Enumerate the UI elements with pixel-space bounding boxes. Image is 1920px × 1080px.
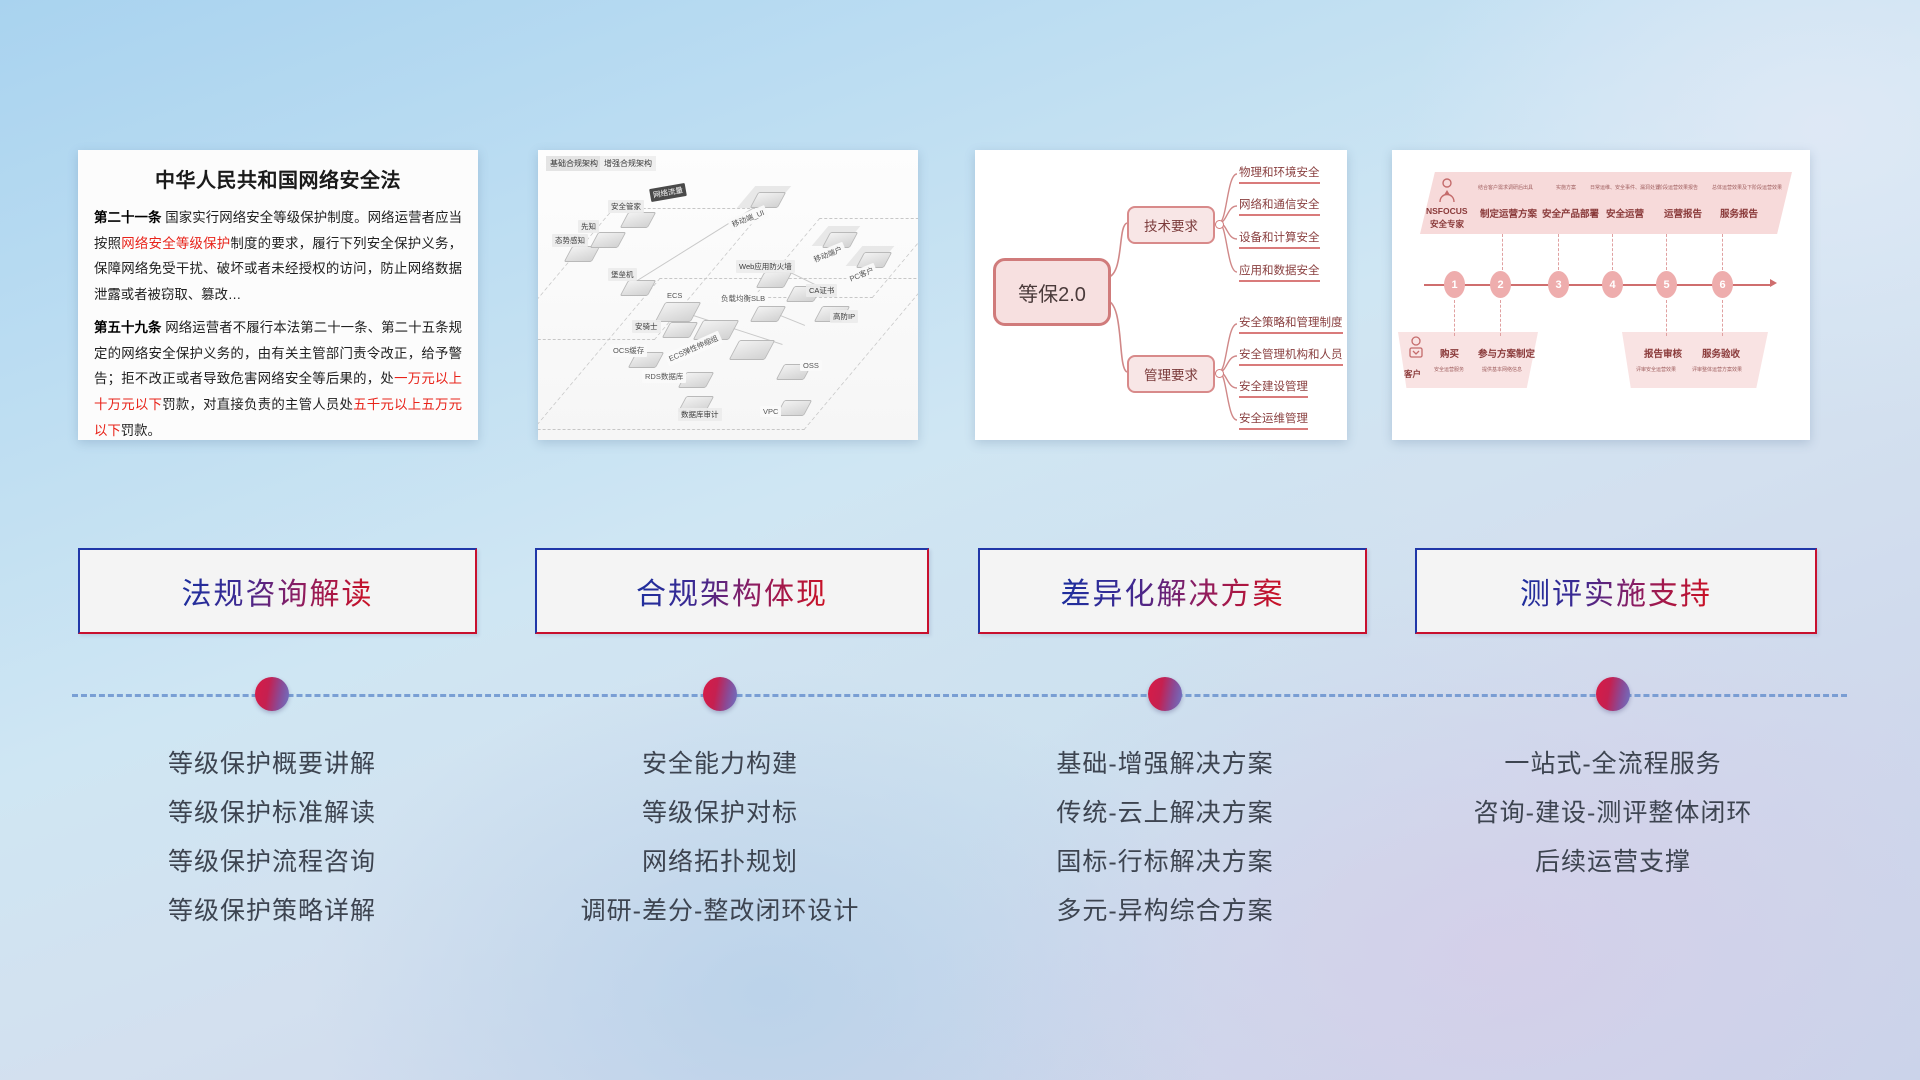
expert-label-line2: 安全专家 (1430, 218, 1464, 230)
law-article-59-text-b: 罚款，对直接负责的主管人员处 (162, 397, 353, 412)
mindmap-collapse-icon-technical[interactable] (1215, 220, 1224, 229)
timeline-bottom-sub-1: 安全运营服务 (1434, 366, 1464, 373)
arch-label-situational-awareness: 态势感知 (552, 234, 588, 247)
timeline-connector-6-top (1722, 234, 1724, 270)
card-architecture-diagram[interactable]: 基础合规架构 增强合规架构 态势感知 先知 安全管家 网络流量 (538, 150, 918, 440)
card-mindmap-dengbao[interactable]: 等保2.0 技术要求 物理和环境安全 网络和通信安全 设备和计算安全 应用和数据… (975, 150, 1347, 440)
law-body: 中华人民共和国网络安全法 第二十一条 国家实行网络安全等级保护制度。网络运营者应… (78, 150, 478, 440)
arch-label-db-audit: 数据库审计 (678, 408, 722, 421)
timeline-top-sub-1: 结合客户需求调研后出具 (1478, 184, 1533, 191)
list-item: 多元-异构综合方案 (965, 887, 1365, 936)
timeline-marker-dot-1[interactable] (255, 677, 289, 711)
timeline-marker-dot-3[interactable] (1148, 677, 1182, 711)
arch-tab-basic[interactable]: 基础合规架构 (546, 156, 602, 171)
section-header-label-0: 法规咨询解读 (182, 569, 374, 613)
timeline-top-title-2: 安全产品部署 (1542, 206, 1599, 220)
customer-person-icon (1406, 336, 1426, 364)
timeline-top-sub-2: 实施方案 (1556, 184, 1576, 191)
timeline-connector-4-top (1612, 234, 1614, 270)
card-service-timeline[interactable]: NSFOCUS 安全专家 客户 结合客户需求调研后出具 制定运营方案 实施方案 … (1392, 150, 1810, 440)
customer-label: 客户 (1404, 368, 1421, 380)
service-timeline-canvas: NSFOCUS 安全专家 客户 结合客户需求调研后出具 制定运营方案 实施方案 … (1392, 150, 1810, 440)
section-header-label-1: 合规架构体现 (636, 569, 828, 613)
list-item: 等级保护流程咨询 (72, 838, 472, 887)
section-header-label-3: 测评实施支持 (1520, 569, 1712, 613)
arch-label-bastion: 堡垒机 (608, 268, 637, 281)
list-item: 安全能力构建 (520, 740, 920, 789)
timeline-connector-1-bottom (1454, 300, 1456, 336)
list-item: 咨询-建设-测评整体闭环 (1413, 789, 1813, 838)
bullet-column-differentiated-solution: 基础-增强解决方案 传统-云上解决方案 国标-行标解决方案 多元-异构综合方案 (965, 740, 1365, 936)
arch-label-slb: 负载均衡SLB (718, 292, 768, 305)
law-article-21-highlight: 网络安全等级保护 (121, 236, 230, 251)
timeline-bottom-title-4: 服务验收 (1702, 346, 1740, 360)
timeline-top-title-1: 制定运营方案 (1480, 206, 1537, 220)
arch-label-anti-ddos: 高防IP (830, 310, 858, 323)
timeline-connector-2-top (1502, 234, 1504, 270)
timeline-node-3[interactable]: 3 (1548, 271, 1569, 298)
dashed-timeline-rule (72, 694, 1847, 697)
timeline-node-2[interactable]: 2 (1490, 271, 1511, 298)
mindmap-leaf-physical-env: 物理和环境安全 (1239, 164, 1320, 184)
mindmap-leaf-network-comm: 网络和通信安全 (1239, 196, 1320, 216)
mindmap-leaf-device-compute: 设备和计算安全 (1239, 229, 1320, 249)
timeline-node-1[interactable]: 1 (1444, 271, 1465, 298)
timeline-band-customer-right (1622, 332, 1768, 388)
arch-label-xianzhi: 先知 (578, 220, 599, 233)
arch-label-network-traffic: 网络流量 (649, 183, 687, 202)
timeline-marker-dot-4[interactable] (1596, 677, 1630, 711)
timeline-top-title-3: 安全运营 (1606, 206, 1644, 220)
list-item: 网络拓扑规划 (520, 838, 920, 887)
expert-person-icon (1436, 178, 1458, 204)
arch-label-oss: OSS (800, 360, 822, 371)
arch-label-ecs: ECS (664, 290, 685, 301)
timeline-connector-2-bottom (1500, 300, 1502, 336)
arch-label-vpc: VPC (760, 406, 781, 417)
timeline-top-title-4: 运营报告 (1664, 206, 1702, 220)
section-header-label-2: 差异化解决方案 (1061, 569, 1285, 613)
mindmap-branch-technical[interactable]: 技术要求 (1127, 206, 1215, 244)
timeline-connector-6-bottom (1722, 300, 1724, 336)
mindmap-leaf-org-personnel: 安全管理机构和人员 (1239, 346, 1343, 366)
timeline-bottom-title-1: 购买 (1440, 346, 1459, 360)
list-item: 等级保护标准解读 (72, 789, 472, 838)
list-item: 等级保护概要讲解 (72, 740, 472, 789)
timeline-top-sub-5: 总体运营效果及下阶段运营效果 (1712, 184, 1782, 191)
expert-label-line1: NSFOCUS (1426, 206, 1468, 216)
timeline-connector-5-bottom (1666, 300, 1668, 336)
mindmap-leaf-build-mgmt: 安全建设管理 (1239, 378, 1308, 398)
timeline-marker-dot-2[interactable] (703, 677, 737, 711)
law-article-59-label: 第五十九条 (94, 320, 161, 335)
arch-label-ocs-cache: OCS缓存 (610, 344, 647, 357)
timeline-top-sub-3: 日常运维、安全事件、漏洞处置 (1590, 184, 1660, 191)
arch-label-security-butler: 安全管家 (608, 200, 644, 213)
list-item: 传统-云上解决方案 (965, 789, 1365, 838)
mindmap-root[interactable]: 等保2.0 (993, 258, 1111, 326)
timeline-bottom-sub-3: 评审安全运营效果 (1636, 366, 1676, 373)
timeline-bottom-sub-2: 提供基本网络信息 (1482, 366, 1522, 373)
timeline-arrow-icon (1770, 279, 1777, 287)
arch-label-waf: Web应用防火墙 (736, 260, 795, 273)
bullet-column-compliance-architecture: 安全能力构建 等级保护对标 网络拓扑规划 调研-差分-整改闭环设计 (520, 740, 920, 936)
card-cybersecurity-law[interactable]: 中华人民共和国网络安全法 第二十一条 国家实行网络安全等级保护制度。网络运营者应… (78, 150, 478, 440)
section-header-regulation-consulting[interactable]: 法规咨询解读 (78, 548, 477, 634)
timeline-connector-5-top (1666, 234, 1668, 270)
arch-tab-enhanced[interactable]: 增强合规架构 (600, 156, 656, 171)
mindmap-leaf-ops-mgmt: 安全运维管理 (1239, 410, 1308, 430)
timeline-top-sub-4: 阶段运营效果报告 (1658, 184, 1698, 191)
list-item: 一站式-全流程服务 (1413, 740, 1813, 789)
arch-label-anqishi: 安骑士 (632, 320, 661, 333)
mindmap-canvas: 等保2.0 技术要求 物理和环境安全 网络和通信安全 设备和计算安全 应用和数据… (975, 150, 1347, 440)
list-item: 等级保护对标 (520, 789, 920, 838)
mindmap-collapse-icon-management[interactable] (1215, 369, 1224, 378)
section-header-differentiated-solution[interactable]: 差异化解决方案 (978, 548, 1367, 634)
timeline-band-expert (1420, 172, 1792, 234)
timeline-bottom-title-3: 报告审核 (1644, 346, 1682, 360)
law-article-59-text-c: 罚款。 (121, 423, 161, 438)
list-item: 国标-行标解决方案 (965, 838, 1365, 887)
law-article-21: 第二十一条 国家实行网络安全等级保护制度。网络运营者应当按照网络安全等级保护制度… (94, 205, 462, 308)
architecture-canvas: 基础合规架构 增强合规架构 态势感知 先知 安全管家 网络流量 (538, 150, 918, 440)
bullet-column-regulation-consulting: 等级保护概要讲解 等级保护标准解读 等级保护流程咨询 等级保护策略详解 (72, 740, 472, 936)
arch-label-rds: RDS数据库 (642, 370, 686, 383)
bullet-column-assessment-support: 一站式-全流程服务 咨询-建设-测评整体闭环 后续运营支撑 (1413, 740, 1813, 887)
timeline-bottom-sub-4: 评审整体运营方案效果 (1692, 366, 1742, 373)
timeline-node-4[interactable]: 4 (1602, 271, 1623, 298)
arch-label-ca-cert: CA证书 (806, 284, 837, 297)
mindmap-leaf-app-data: 应用和数据安全 (1239, 262, 1320, 282)
section-header-compliance-architecture[interactable]: 合规架构体现 (535, 548, 929, 634)
timeline-node-6[interactable]: 6 (1712, 271, 1733, 298)
slide-canvas: 中华人民共和国网络安全法 第二十一条 国家实行网络安全等级保护制度。网络运营者应… (0, 0, 1920, 1080)
list-item: 后续运营支撑 (1413, 838, 1813, 887)
law-article-59: 第五十九条 网络运营者不履行本法第二十一条、第二十五条规定的网络安全保护义务的，… (94, 315, 462, 440)
timeline-node-5[interactable]: 5 (1656, 271, 1677, 298)
timeline-top-title-5: 服务报告 (1720, 206, 1758, 220)
mindmap-branch-management[interactable]: 管理要求 (1127, 355, 1215, 393)
list-item: 调研-差分-整改闭环设计 (520, 887, 920, 936)
timeline-connector-3-top (1558, 234, 1560, 270)
list-item: 基础-增强解决方案 (965, 740, 1365, 789)
mindmap-leaf-policy-system: 安全策略和管理制度 (1239, 314, 1343, 334)
law-title: 中华人民共和国网络安全法 (94, 164, 462, 193)
list-item: 等级保护策略详解 (72, 887, 472, 936)
law-article-21-label: 第二十一条 (94, 210, 161, 225)
timeline-bottom-title-2: 参与方案制定 (1478, 346, 1535, 360)
section-header-assessment-support[interactable]: 测评实施支持 (1415, 548, 1817, 634)
